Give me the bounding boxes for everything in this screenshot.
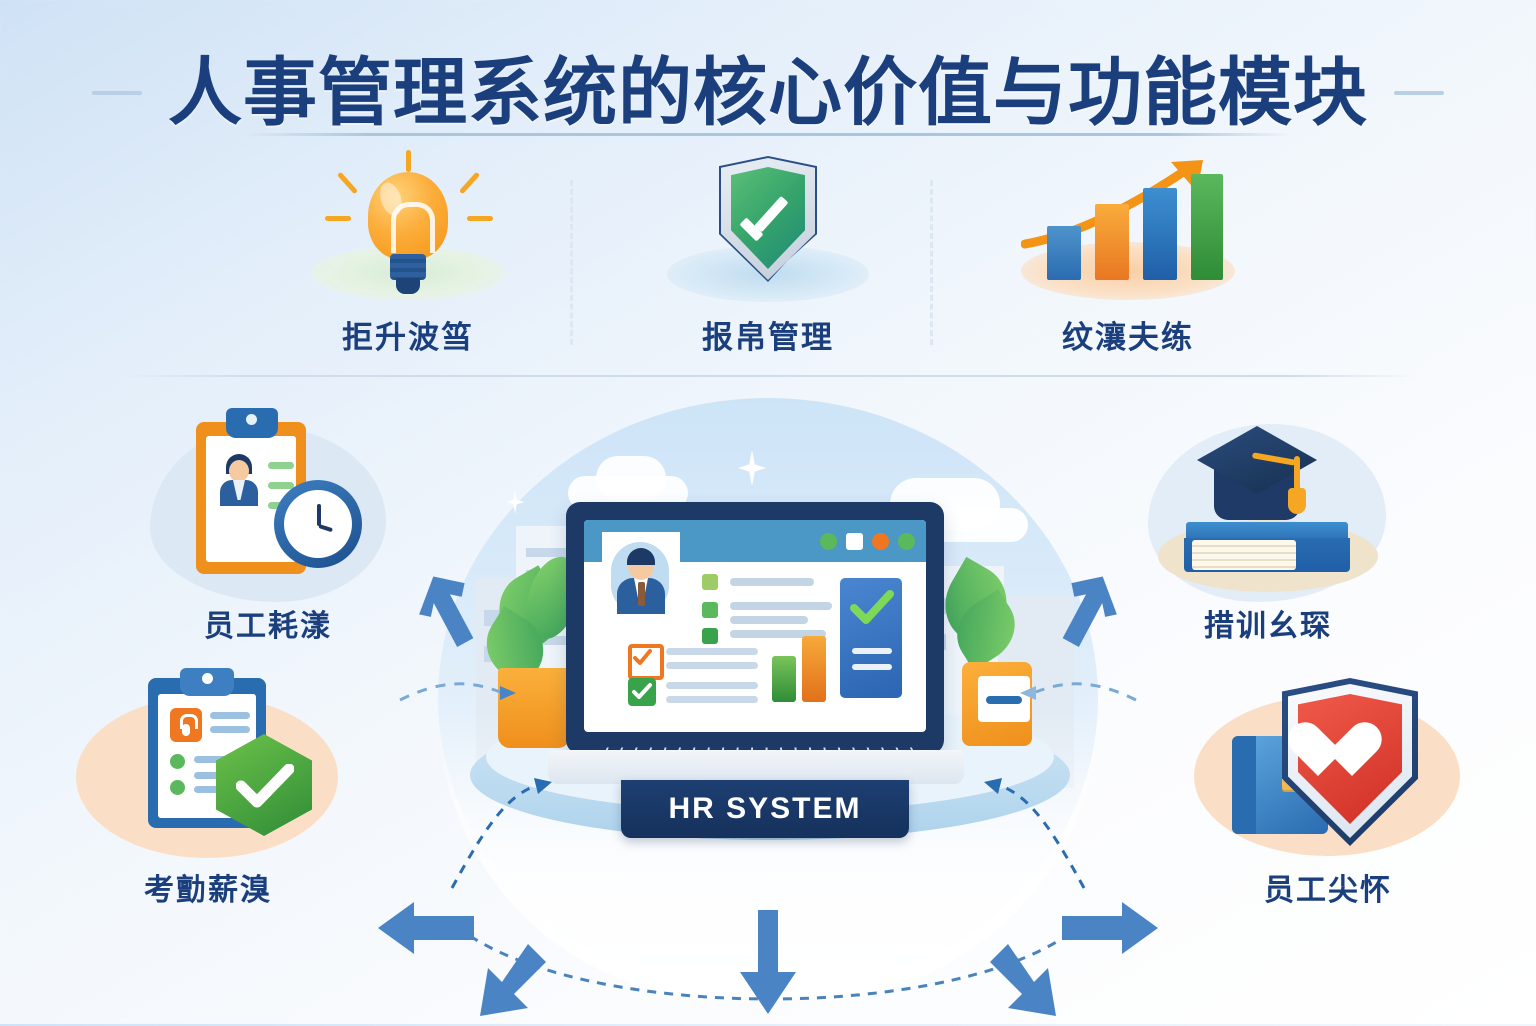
title-left-dash <box>92 91 142 95</box>
title-right-dash <box>1394 91 1444 95</box>
core-value-row: 拒升波筜 报帛管理 <box>0 150 1536 375</box>
window-dot-2[interactable] <box>846 533 863 550</box>
core-value-label: 报帛管理 <box>702 312 834 357</box>
module-training-development[interactable]: 措训幺琛 <box>1118 404 1418 645</box>
hr-system-hub: HR SYSTEM <box>0 380 1536 1024</box>
core-value-label: 拒升波筜 <box>342 312 474 357</box>
panel-check-icon <box>850 590 894 626</box>
module-label: 员工尖怀 <box>1178 865 1478 909</box>
mini-bar-chart <box>772 624 842 702</box>
core-value-card-efficiency[interactable]: 拒升波筜 <box>228 150 588 375</box>
payroll-secure-clipboard-icon <box>58 668 358 863</box>
employee-record-clock-icon <box>118 404 418 599</box>
shield-check-icon <box>643 150 893 300</box>
value-divider-1 <box>570 180 573 345</box>
module-label: 措训幺琛 <box>1118 601 1418 645</box>
hr-system-banner: HR SYSTEM <box>621 780 909 838</box>
bar-chart-growth-icon <box>1003 150 1253 300</box>
window-dot-4[interactable] <box>898 533 915 550</box>
module-label: 员工耗漾 <box>118 601 418 645</box>
title-underline <box>243 133 1293 136</box>
core-value-card-analytics[interactable]: 纹瀼夫练 <box>948 150 1308 375</box>
laptop-screen[interactable] <box>584 520 926 732</box>
hr-system-label: HR SYSTEM <box>668 792 861 826</box>
arrow-up-left <box>418 576 494 656</box>
module-employee-care[interactable]: 员工尖怀 <box>1178 668 1478 909</box>
module-employee-records[interactable]: 员工耗漾 <box>118 404 418 645</box>
graduation-book-icon <box>1118 404 1418 599</box>
value-divider-2 <box>930 180 933 345</box>
checklist-box-3 <box>702 628 718 644</box>
arrow-right <box>1062 902 1158 954</box>
page-title-row: 人事管理系统的核心价值与功能模块 <box>0 38 1536 148</box>
infographic-canvas: 人事管理系统的核心价值与功能模块 拒升波筜 <box>0 0 1536 1024</box>
module-label: 考勯薪溴 <box>58 865 358 909</box>
laptop-base <box>548 750 964 784</box>
core-value-card-compliance[interactable]: 报帛管理 <box>588 150 948 375</box>
section-divider <box>118 375 1418 377</box>
task-checkbox-pending[interactable] <box>628 644 664 680</box>
core-value-label: 纹瀼夫练 <box>1062 312 1194 357</box>
module-attendance-payroll[interactable]: 考勯薪溴 <box>58 668 358 909</box>
arrow-down-center <box>740 910 796 1020</box>
checklist-box-2 <box>702 602 718 618</box>
arrow-up-right <box>1042 576 1118 656</box>
task-checkbox-done[interactable] <box>628 678 656 706</box>
window-dot-3[interactable] <box>872 533 889 550</box>
lightbulb-icon <box>283 150 533 300</box>
arrow-left <box>378 902 474 954</box>
arrow-down-left <box>470 940 556 1026</box>
checklist-box-1 <box>702 574 718 590</box>
arrow-down-right <box>980 940 1066 1026</box>
window-dot-1[interactable] <box>820 533 837 550</box>
page-title: 人事管理系统的核心价值与功能模块 <box>168 56 1368 130</box>
heart-shield-icon <box>1178 668 1478 863</box>
